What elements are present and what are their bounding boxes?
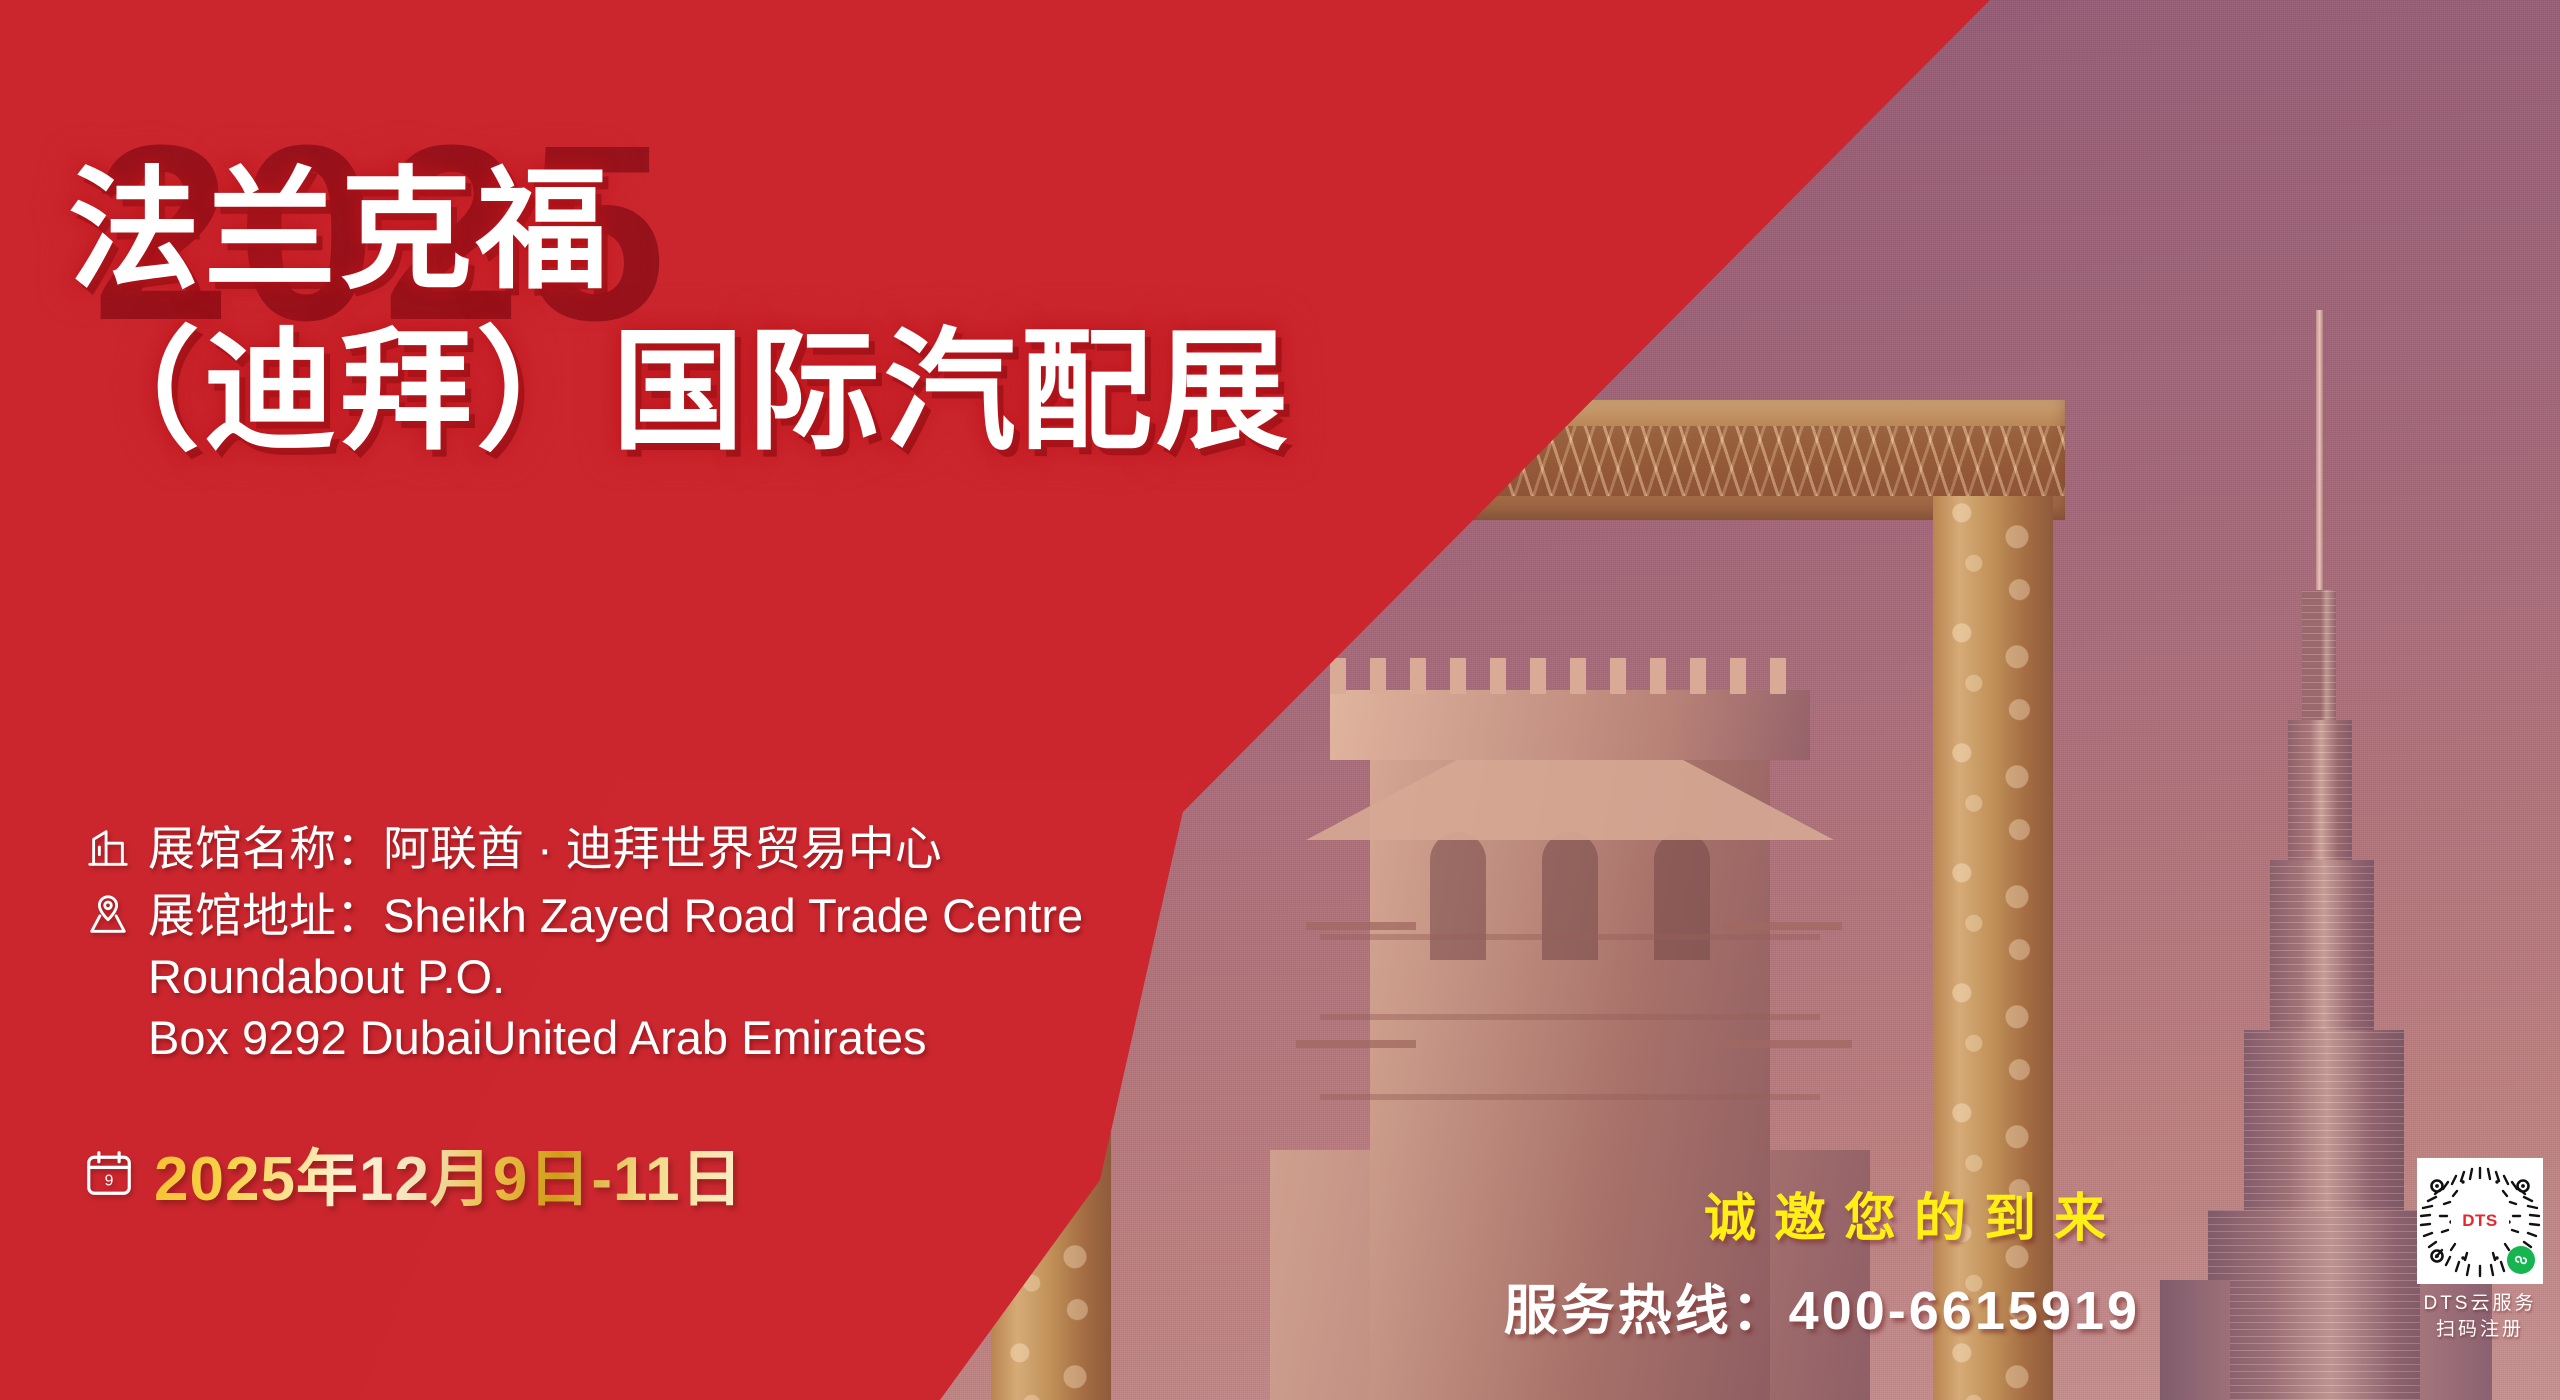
title-line-2: （迪拜）国际汽配展 (68, 311, 1568, 472)
museum-building-icon (78, 818, 138, 876)
qr-caption: DTS云服务 扫码注册 (2414, 1291, 2546, 1342)
venue-address-line-1: 展馆地址：Sheikh Zayed Road Trade Centre Roun… (148, 889, 1083, 1003)
calendar-icon: 9 (78, 1142, 140, 1204)
qr-brand-logo: DTS (2451, 1209, 2509, 1233)
heritage-crown (1330, 690, 1810, 760)
venue-address-text: 展馆地址：Sheikh Zayed Road Trade Centre Roun… (148, 885, 1348, 1068)
event-poster: 2025 法兰克福 （迪拜）国际汽配展 展馆名称：阿联酋 · 迪拜世界贸易中心 (0, 0, 2560, 1400)
burj-khalifa-wing-left (2160, 1280, 2230, 1400)
venue-info-block: 展馆名称：阿联酋 · 迪拜世界贸易中心 展馆地址：Sheikh Zayed Ro… (78, 818, 1478, 1074)
title-line-1: 法兰克福 (68, 150, 1568, 311)
venue-name-row: 展馆名称：阿联酋 · 迪拜世界贸易中心 (78, 818, 1478, 879)
svg-text:9: 9 (105, 1172, 114, 1189)
event-date-text: 2025年12月9日-11日 (154, 1128, 744, 1218)
poster-title: 法兰克福 （迪拜）国际汽配展 (68, 150, 1568, 472)
qr-code-image[interactable]: DTS (2417, 1158, 2543, 1284)
venue-address-row: 展馆地址：Sheikh Zayed Road Trade Centre Roun… (78, 885, 1478, 1068)
event-date-row: 9 2025年12月9日-11日 (78, 1128, 744, 1218)
burj-khalifa-base (2208, 1210, 2444, 1400)
venue-address-line-2: Box 9292 DubaiUnited Arab Emirates (148, 1011, 927, 1064)
venue-name-text: 展馆名称：阿联酋 · 迪拜世界贸易中心 (148, 818, 942, 879)
qr-registration-block[interactable]: DTS DTS云服务 扫码注册 (2414, 1158, 2546, 1342)
dubai-frame-right-leg (1933, 496, 2053, 1400)
qr-caption-line-2: 扫码注册 (2414, 1317, 2546, 1343)
qr-caption-line-1: DTS云服务 (2414, 1291, 2546, 1317)
wechat-miniprogram-icon (2507, 1246, 2535, 1274)
map-location-pin-icon (78, 885, 138, 943)
service-hotline: 服务热线：400-6615919 (1504, 1266, 2140, 1345)
heritage-merlons (1330, 658, 1810, 694)
invite-slogan: 诚邀您的到来 (1704, 1176, 2124, 1251)
